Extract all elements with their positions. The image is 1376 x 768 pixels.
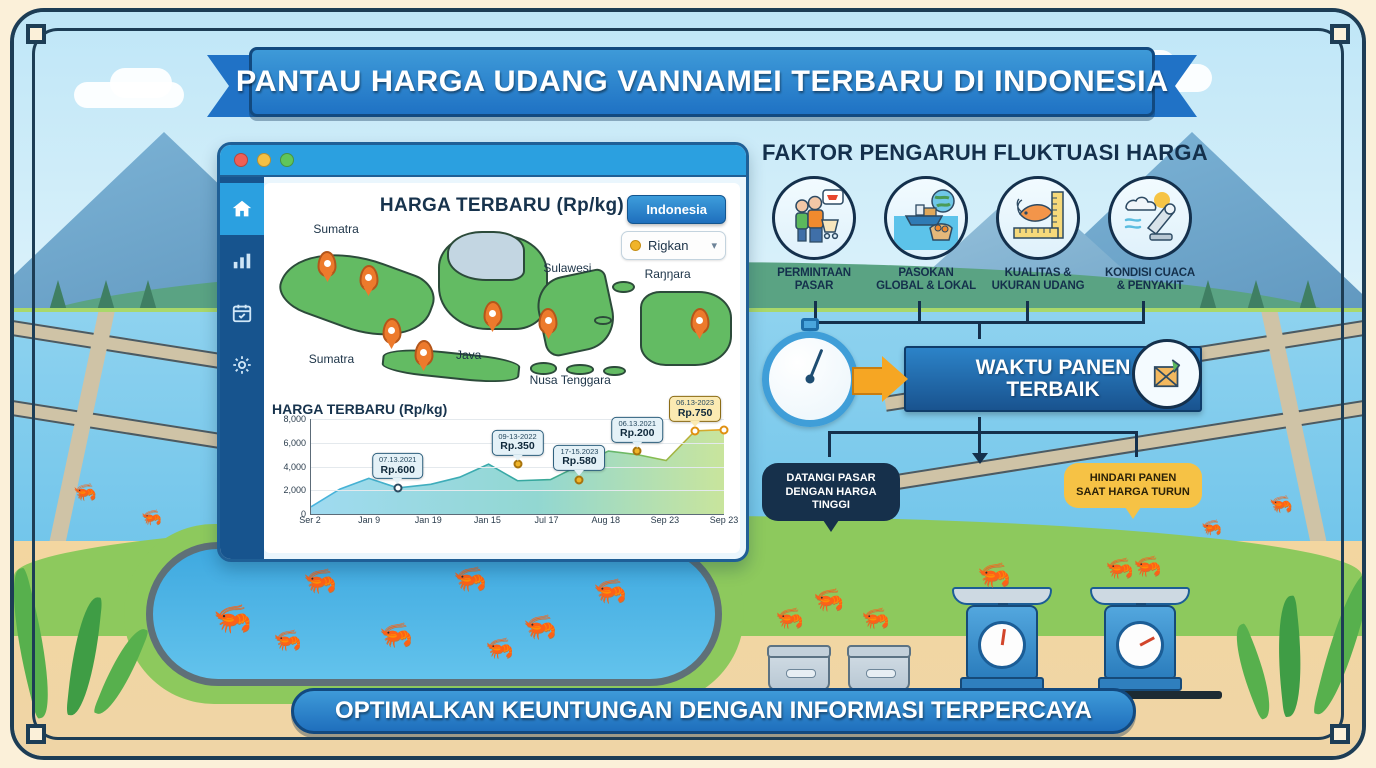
sidebar-item-calendar[interactable]: [220, 287, 264, 339]
map-label: Sumatra: [313, 222, 358, 236]
y-axis-tick: 4,000: [283, 462, 306, 472]
chart-data-point[interactable]: [633, 447, 642, 456]
map-panel: HARGA TERBARU (Rp/kg) Indonesia Rigkan ▾: [264, 183, 740, 398]
cargo-ship-globe-icon: [884, 176, 968, 260]
best-harvest-row: WAKTU PANEN TERBAIK: [762, 341, 1202, 417]
map-pin[interactable]: [483, 301, 502, 327]
home-icon: [231, 198, 253, 220]
dashboard-sidebar: [220, 177, 264, 559]
shrimp-bin: [848, 649, 910, 691]
callouts-row: DATANGI PASAR DENGAN HARGA TINGGI HINDAR…: [762, 463, 1202, 523]
factor-item[interactable]: PERMINTAAN PASAR: [762, 176, 866, 293]
shrimp-icon: 🦐: [1132, 552, 1163, 582]
decorative-frame: 🦐 🦐 🦐 🦐 🦐 🦐 🦐 🦐 🦐 🦐 🦐 🦐: [10, 8, 1366, 760]
tooltip-value: Rp.200: [618, 428, 656, 440]
shrimp-icon: 🦐: [860, 604, 891, 634]
sidebar-item-settings[interactable]: [220, 339, 264, 391]
x-axis-tick: Aug 18: [591, 515, 620, 525]
maximize-icon[interactable]: [280, 153, 294, 167]
shrimp-icon: 🦐: [1104, 554, 1135, 584]
weighing-scale: [954, 587, 1050, 691]
factor-label-line2: UKURAN UDANG: [986, 280, 1090, 293]
callout-high-price[interactable]: DATANGI PASAR DENGAN HARGA TINGGI: [762, 463, 900, 521]
map-pin[interactable]: [359, 265, 378, 291]
chart-data-point[interactable]: [691, 426, 700, 435]
page-title: PANTAU HARGA UDANG VANNAMEI TERBARU DI I…: [236, 65, 1169, 99]
chart-data-point[interactable]: [575, 475, 584, 484]
weighing-scale: [1092, 587, 1188, 691]
tooltip-value: Rp.580: [560, 456, 598, 468]
map-pin[interactable]: [690, 308, 709, 334]
shrimp-bin: [768, 649, 830, 691]
gear-icon: [231, 354, 253, 376]
weather-microscope-icon-art: [1118, 186, 1182, 250]
x-axis-tick: Jan 19: [415, 515, 442, 525]
harvest-net-icon-art: [1146, 353, 1188, 395]
tooltip-value: Rp.350: [498, 441, 536, 453]
shrimp-ruler-icon-art: [1006, 186, 1070, 250]
factor-label: KONDISI CUACA & PENYAKIT: [1098, 267, 1202, 293]
sidebar-item-statistics[interactable]: [220, 235, 264, 287]
chart-data-point[interactable]: [513, 460, 522, 469]
dashboard-content: HARGA TERBARU (Rp/kg) Indonesia Rigkan ▾: [264, 183, 740, 553]
shrimp-icon: 🦐: [522, 610, 558, 645]
y-axis-tick: 2,000: [283, 485, 306, 495]
shrimp-icon: 🦐: [592, 574, 628, 609]
shoppers-cart-icon: [772, 176, 856, 260]
shrimp-ruler-icon: [996, 176, 1080, 260]
harvest-banner-line2: TERBAIK: [976, 379, 1131, 401]
indonesia-map[interactable]: Sumatra Sumatra Java Sulawesi Nusa Tengg…: [272, 217, 732, 394]
shoppers-cart-icon-art: [782, 186, 846, 250]
shrimp-icon: 🦐: [141, 507, 164, 530]
foliage-right: [1228, 546, 1348, 716]
map-pin[interactable]: [539, 308, 558, 334]
chart-tooltip: 06.13-2023Rp.750: [669, 396, 721, 422]
right-arrow-icon: [852, 356, 910, 402]
factor-label: PASOKAN GLOBAL & LOKAL: [874, 267, 978, 293]
map-label: Nusa Tenggara: [530, 373, 611, 387]
shrimp-icon: 🦐: [212, 600, 254, 640]
shrimp-icon: 🦐: [1268, 493, 1293, 517]
window-titlebar: [220, 145, 746, 177]
factor-item[interactable]: KUALITAS & UKURAN UDANG: [986, 176, 1090, 293]
x-axis-tick: Jul 17: [535, 515, 559, 525]
chart-title: HARGA TERBARU (Rp/kg): [272, 401, 730, 417]
factor-label-line1: KUALITAS &: [986, 267, 1090, 280]
close-icon[interactable]: [234, 153, 248, 167]
chart-tooltip: 06.13.2021Rp.200: [611, 416, 663, 442]
map-label: Sulawesi: [543, 261, 591, 275]
chart-tooltip: 07.13.2021Rp.600: [372, 453, 424, 479]
x-axis-tick: Jan 9: [358, 515, 380, 525]
shrimp-icon: 🦐: [302, 564, 338, 599]
factors-list: PERMINTAAN PASAR: [762, 176, 1202, 293]
chart-icon: [231, 250, 253, 272]
footer-title: OPTIMALKAN KEUNTUNGAN DENGAN INFORMASI T…: [335, 697, 1092, 725]
tooltip-value: Rp.750: [676, 408, 714, 420]
footer-ribbon: OPTIMALKAN KEUNTUNGAN DENGAN INFORMASI T…: [291, 688, 1136, 734]
y-axis-tick: 8,000: [283, 414, 306, 424]
price-chart-panel: HARGA TERBARU (Rp/kg): [264, 395, 740, 553]
factor-item[interactable]: PASOKAN GLOBAL & LOKAL: [874, 176, 978, 293]
corner-ornament: [26, 24, 46, 44]
factor-item[interactable]: KONDISI CUACA & PENYAKIT: [1098, 176, 1202, 293]
connector-bracket-top: [762, 297, 1202, 339]
y-axis-tick: 6,000: [283, 438, 306, 448]
shrimp-icon: 🦐: [976, 558, 1012, 593]
cargo-ship-globe-icon-art: [894, 186, 958, 250]
chart-tooltip: 17-15.2023Rp.580: [553, 445, 605, 471]
chart-data-point[interactable]: [393, 483, 402, 492]
shrimp-icon: 🦐: [812, 584, 846, 617]
map-pin[interactable]: [318, 251, 337, 277]
callout-avoid-low[interactable]: HINDARI PANEN SAAT HARGA TURUN: [1064, 463, 1202, 507]
shrimp-icon: 🦐: [452, 562, 488, 597]
connector-bracket-bottom: [762, 417, 1202, 463]
x-axis-tick: Jan 15: [474, 515, 501, 525]
chart-tooltip: 09-13-2022Rp.350: [491, 429, 543, 455]
map-label: Java: [456, 348, 481, 362]
shrimp-icon: 🦐: [378, 618, 414, 653]
harvest-net-icon: [1132, 339, 1202, 409]
shrimp-icon: 🦐: [1201, 517, 1224, 540]
shrimp-icon: 🦐: [272, 626, 303, 656]
minimize-icon[interactable]: [257, 153, 271, 167]
price-chart-plot[interactable]: 02,0004,0006,0008,00007.13.2021Rp.60009-…: [310, 419, 724, 515]
factor-label-line1: PERMINTAAN: [762, 267, 866, 280]
factor-label-line2: GLOBAL & LOKAL: [874, 280, 978, 293]
cloud-icon: [110, 68, 172, 98]
map-pin[interactable]: [414, 340, 433, 366]
corner-ornament: [1330, 724, 1350, 744]
x-axis-tick: Sep 23: [710, 515, 739, 525]
dashboard-window[interactable]: HARGA TERBARU (Rp/kg) Indonesia Rigkan ▾: [217, 142, 749, 562]
foliage-left: [26, 546, 146, 716]
infographic-canvas: 🦐 🦐 🦐 🦐 🦐 🦐 🦐 🦐 🦐 🦐 🦐 🦐: [0, 0, 1376, 768]
tooltip-value: Rp.600: [379, 465, 417, 477]
factors-title: FAKTOR PENGARUH FLUKTUASI HARGA: [762, 140, 1202, 166]
shrimp-icon: 🦐: [73, 481, 98, 505]
chart-x-axis: Ser 2Jan 9Jan 19Jan 15Jul 17Aug 18Sep 23…: [272, 515, 730, 529]
chart-data-point[interactable]: [720, 425, 729, 434]
map-label: Raŋŋara: [645, 267, 691, 281]
gridline: [311, 490, 724, 491]
shrimp-icon: 🦐: [484, 634, 515, 664]
factor-label-line2: & PENYAKIT: [1098, 280, 1202, 293]
factor-label: PERMINTAAN PASAR: [762, 267, 866, 293]
factor-label-line2: PASAR: [762, 280, 866, 293]
corner-ornament: [1330, 24, 1350, 44]
x-axis-tick: Ser 2: [299, 515, 321, 525]
factor-label-line1: KONDISI CUACA: [1098, 267, 1202, 280]
factor-label-line1: PASOKAN: [874, 267, 978, 280]
factor-label: KUALITAS & UKURAN UDANG: [986, 267, 1090, 293]
shrimp-icon: 🦐: [774, 604, 805, 634]
corner-ornament: [26, 724, 46, 744]
weather-microscope-icon: [1108, 176, 1192, 260]
x-axis-tick: Sep 23: [651, 515, 680, 525]
calendar-icon: [231, 302, 253, 324]
map-pin[interactable]: [382, 318, 401, 344]
factors-section: FAKTOR PENGARUH FLUKTUASI HARGA: [762, 140, 1202, 523]
harvest-banner-line1: WAKTU PANEN: [976, 357, 1131, 379]
map-label: Sumatra: [309, 352, 354, 366]
stopwatch-icon: [762, 331, 858, 427]
sidebar-item-home[interactable]: [220, 183, 264, 235]
header-ribbon: PANTAU HARGA UDANG VANNAMEI TERBARU DI I…: [207, 47, 1197, 127]
header-ribbon-body: PANTAU HARGA UDANG VANNAMEI TERBARU DI I…: [249, 47, 1155, 117]
